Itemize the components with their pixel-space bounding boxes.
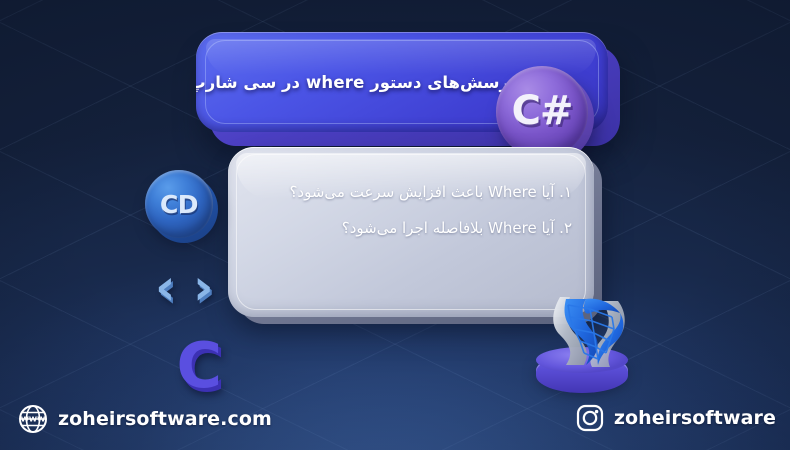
instagram-icon [576,404,604,432]
csharp-badge-face: C# [496,66,588,158]
questions-list: ۱. آیا Where باعث افزایش سرعت می‌شود؟ ۲.… [228,181,594,239]
c-language-label: C [176,329,222,402]
bracket-left-icon: ‹ [155,258,176,316]
instagram-link[interactable]: zoheirsoftware [576,404,776,432]
cd-icon: CD [145,170,221,246]
svg-text:WWW: WWW [21,415,45,424]
cd-icon-label: CD [160,190,198,219]
question-item: ۱. آیا Where باعث افزایش سرعت می‌شود؟ [250,181,572,204]
sql-server-logo-icon [540,291,632,371]
code-brackets-icon: ‹ › [155,258,239,318]
c-language-icon: C [160,335,222,395]
website-label: zoheirsoftware.com [58,408,272,430]
bracket-right-icon: › [193,258,214,316]
globe-www-icon: WWW [18,404,48,434]
page-title: پرسش‌های دستور where در سی شارپ [196,32,534,132]
sql-server-icon [530,295,642,407]
csharp-badge-label: C# [512,88,573,134]
cd-icon-face: CD [145,170,213,238]
banner-graphic: پرسش‌های دستور where در سی شارپ C# ۱. آی… [0,0,790,450]
question-item: ۲. آیا Where بلافاصله اجرا می‌شود؟ [250,217,572,240]
instagram-label: zoheirsoftware [614,407,776,429]
title-banner: پرسش‌های دستور where در سی شارپ C# [196,32,620,144]
website-link[interactable]: WWW zoheirsoftware.com [18,404,272,434]
